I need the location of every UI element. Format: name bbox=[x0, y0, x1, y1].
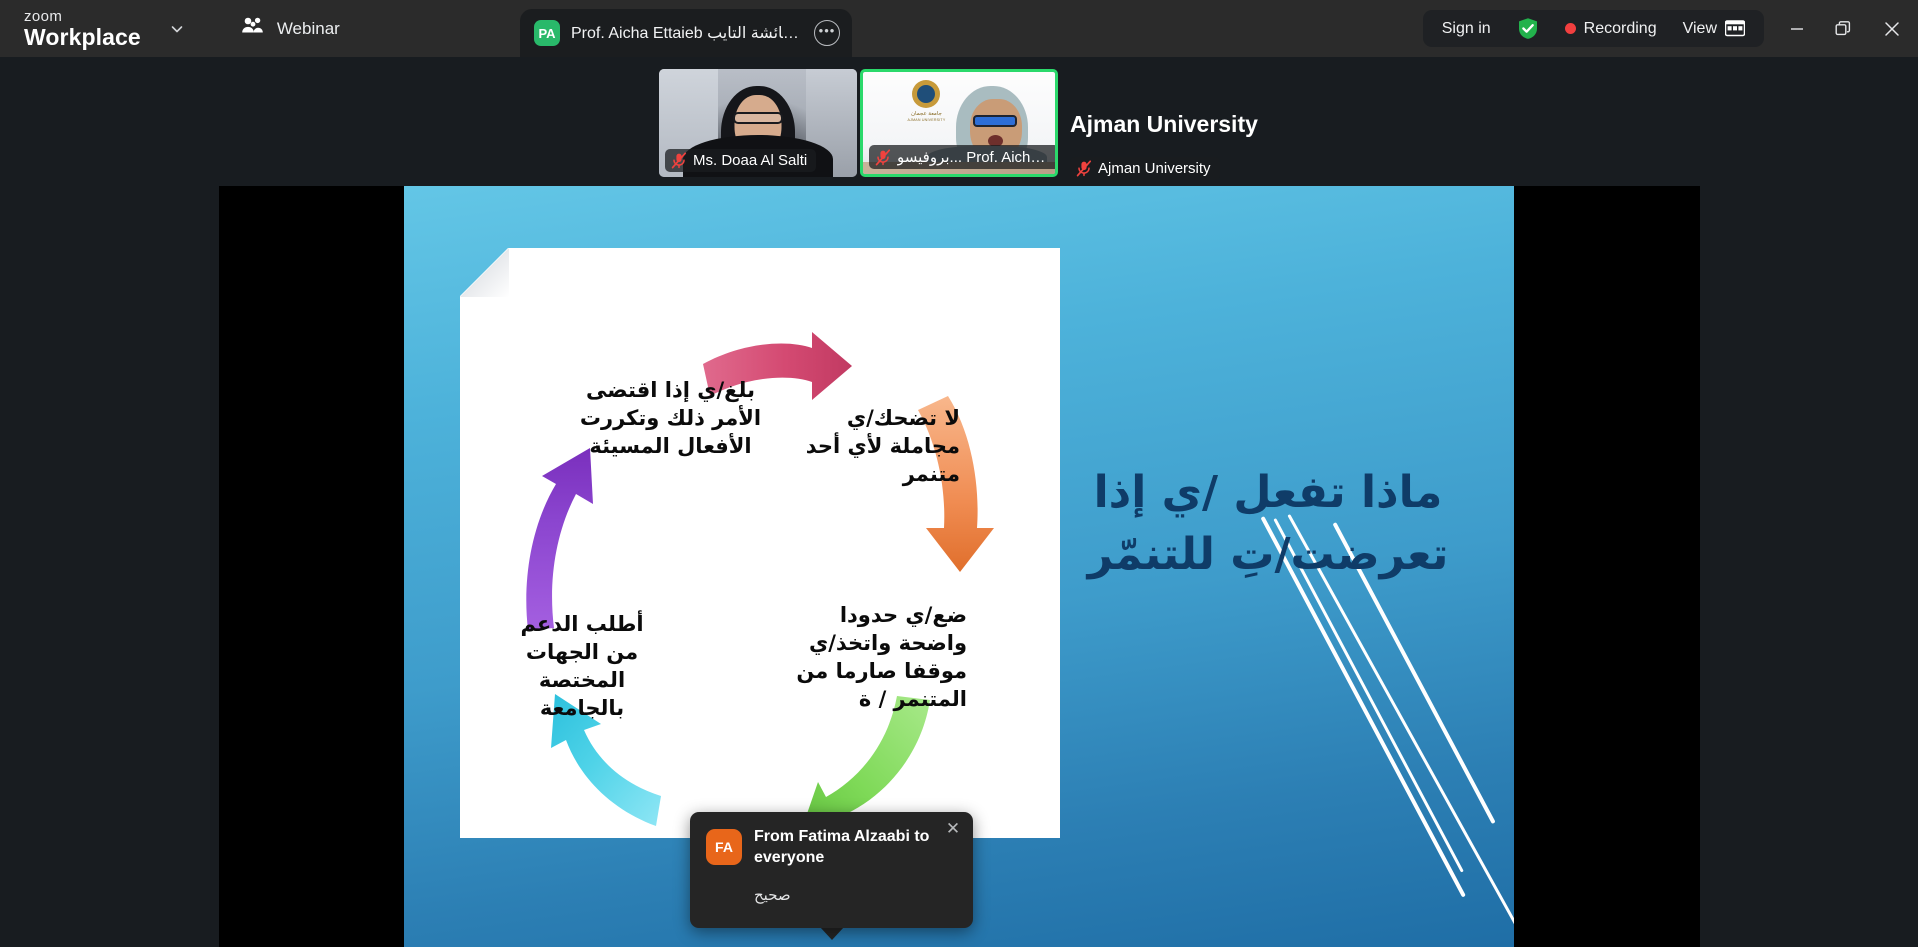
encryption-shield-button[interactable] bbox=[1504, 10, 1552, 47]
cycle-step-text: ضع/ي حدودا واضحة واتخذ/ي موقفا صارما من … bbox=[792, 601, 967, 714]
participant-name: Ms. Doaa Al Salti bbox=[693, 152, 807, 169]
cycle-step-text: أطلب الدعم من الجهات المختصة بالجامعة bbox=[502, 610, 662, 723]
sheet-folded-corner bbox=[460, 248, 509, 297]
tab-avatar: PA bbox=[534, 20, 560, 46]
tab-title: Prof. Aicha Ettaieb د. عائشة التايب bbox=[571, 23, 799, 43]
diagram-sheet: بلغ/ي إذا اقتضى الأمر ذلك وتكررت الأفعال… bbox=[460, 248, 1060, 838]
close-window-button[interactable] bbox=[1866, 0, 1918, 57]
brand-zoom-label: zoom bbox=[24, 9, 141, 24]
tab-strip: PA Prof. Aicha Ettaieb د. عائشة التايب •… bbox=[520, 0, 852, 57]
sign-in-label: Sign in bbox=[1442, 20, 1491, 38]
toast-heading: From Fatima Alzaabi to everyone bbox=[754, 826, 939, 868]
title-bar: zoom Workplace Webinar PA Prof. Aicha Et… bbox=[0, 0, 1918, 57]
participant-name: بروفيسو... Prof. Aicha Ettaieb bbox=[897, 148, 1050, 166]
toast-pointer bbox=[820, 927, 844, 940]
tab-meeting[interactable]: PA Prof. Aicha Ettaieb د. عائشة التايب •… bbox=[520, 9, 852, 57]
grid-view-icon bbox=[1725, 20, 1745, 37]
mic-muted-icon bbox=[671, 152, 687, 169]
arrow-purple bbox=[526, 448, 593, 630]
window-right-controls: Sign in Recording View bbox=[1423, 0, 1918, 57]
cycle-step-text: بلغ/ي إذا اقتضى الأمر ذلك وتكررت الأفعال… bbox=[578, 376, 763, 460]
mic-muted-icon bbox=[875, 149, 891, 166]
host-label-name: Ajman University bbox=[1098, 160, 1211, 177]
sign-in-button[interactable]: Sign in bbox=[1429, 10, 1504, 47]
participant-tile-active-speaker[interactable]: جامعة عجمان AJMAN UNIVERSITY بروفيسو... … bbox=[860, 69, 1058, 177]
slide-title: ماذا تفعل /ي إذا تعرضت/تِ للتنمّر bbox=[1068, 462, 1468, 587]
recording-label: Recording bbox=[1584, 20, 1657, 38]
toast-message: صحيح bbox=[754, 886, 791, 904]
zoom-workplace-brand[interactable]: zoom Workplace bbox=[0, 0, 185, 57]
ajman-university-logo-icon: جامعة عجمان AJMAN UNIVERSITY bbox=[899, 80, 953, 122]
host-display-name: Ajman University bbox=[1070, 111, 1258, 138]
recording-dot-icon bbox=[1565, 23, 1576, 34]
restore-window-button[interactable] bbox=[1820, 0, 1866, 57]
participant-name-badge: بروفيسو... Prof. Aicha Ettaieb bbox=[869, 145, 1058, 169]
status-pill: Sign in Recording View bbox=[1423, 10, 1764, 47]
shield-check-icon bbox=[1517, 17, 1539, 40]
recording-indicator[interactable]: Recording bbox=[1552, 10, 1670, 47]
participant-name-badge: Ms. Doaa Al Salti bbox=[665, 149, 816, 172]
chat-notification-toast[interactable]: FA From Fatima Alzaabi to everyone صحيح … bbox=[690, 812, 973, 928]
participant-tile[interactable]: Ms. Doaa Al Salti bbox=[659, 69, 857, 177]
close-icon[interactable]: ✕ bbox=[942, 818, 964, 840]
cycle-arrows-group bbox=[460, 248, 1060, 838]
minimize-button[interactable] bbox=[1774, 0, 1820, 57]
participant-thumbnail-strip: Ms. Doaa Al Salti جامعة عجمان AJMAN UNIV… bbox=[0, 57, 1918, 184]
view-button[interactable]: View bbox=[1670, 10, 1758, 47]
chevron-down-icon[interactable] bbox=[169, 21, 185, 37]
webinar-label: Webinar bbox=[277, 19, 340, 39]
webinar-mode-chip[interactable]: Webinar bbox=[241, 0, 340, 57]
brand-workplace-label: Workplace bbox=[24, 26, 141, 49]
view-label: View bbox=[1683, 20, 1717, 38]
more-options-icon[interactable]: ••• bbox=[814, 20, 840, 46]
people-group-icon bbox=[241, 16, 265, 41]
cycle-step-text: لا تضحك/ي مجاملة لأي أحد متنمر bbox=[800, 404, 960, 488]
toast-avatar: FA bbox=[706, 829, 742, 865]
host-name-badge: Ajman University bbox=[1070, 157, 1220, 180]
mic-muted-icon bbox=[1076, 160, 1092, 177]
